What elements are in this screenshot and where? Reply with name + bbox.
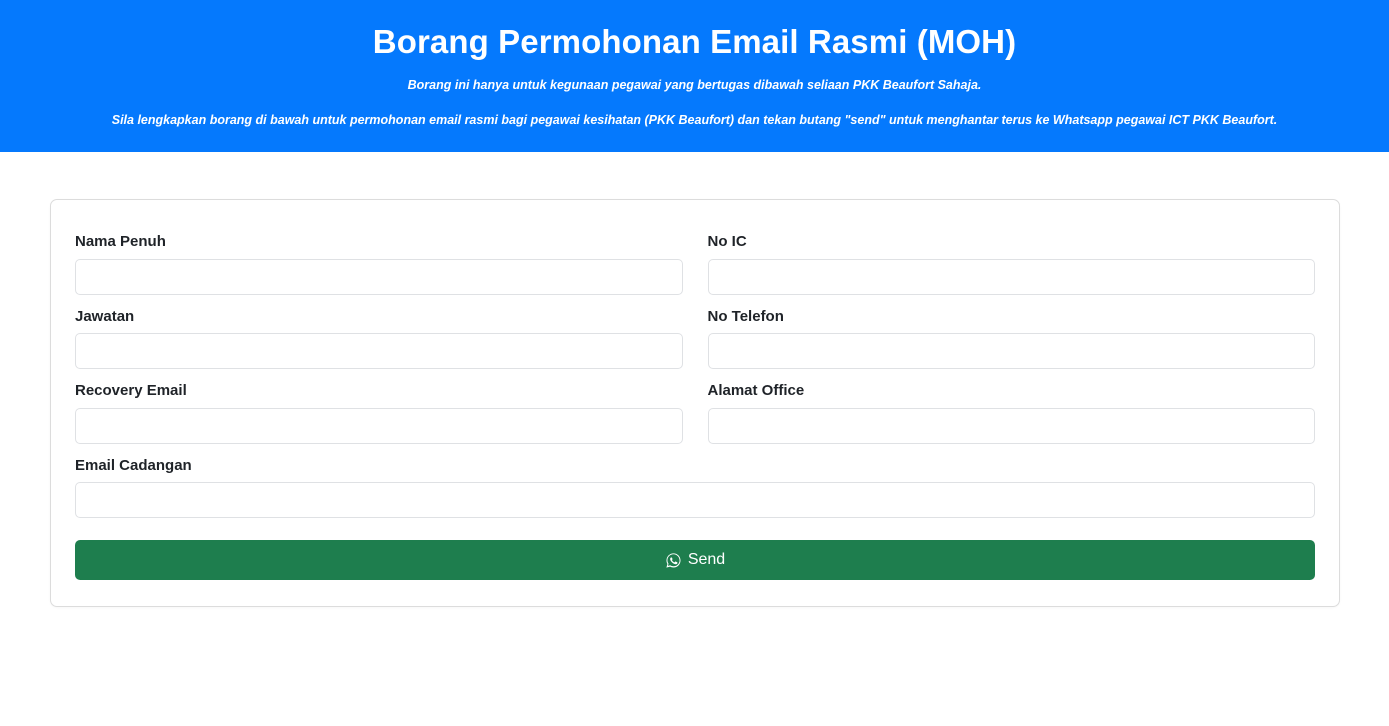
label-alamat-office: Alamat Office [708,381,1316,401]
field-no-telefon: No Telefon [708,307,1316,370]
field-jawatan: Jawatan [75,307,683,370]
whatsapp-icon [665,552,682,569]
field-recovery-email: Recovery Email [75,381,683,444]
application-form-card: Nama Penuh No IC Jawatan No Telefon Reco… [50,199,1340,607]
label-recovery-email: Recovery Email [75,381,683,401]
label-jawatan: Jawatan [75,307,683,327]
input-no-telefon[interactable] [708,333,1316,369]
input-email-cadangan[interactable] [75,482,1315,518]
input-jawatan[interactable] [75,333,683,369]
send-button-label: Send [688,552,725,568]
label-no-ic: No IC [708,232,1316,252]
email-request-form: Nama Penuh No IC Jawatan No Telefon Reco… [75,232,1315,580]
page-header: Borang Permohonan Email Rasmi (MOH) Bora… [0,0,1389,152]
label-nama-penuh: Nama Penuh [75,232,683,252]
input-alamat-office[interactable] [708,408,1316,444]
field-nama-penuh: Nama Penuh [75,232,683,295]
input-no-ic[interactable] [708,259,1316,295]
input-recovery-email[interactable] [75,408,683,444]
input-nama-penuh[interactable] [75,259,683,295]
page-title: Borang Permohonan Email Rasmi (MOH) [373,22,1016,62]
header-subtitle-secondary: Sila lengkapkan borang di bawah untuk pe… [112,113,1278,127]
label-email-cadangan: Email Cadangan [75,456,1315,476]
header-subtitle-primary: Borang ini hanya untuk kegunaan pegawai … [408,78,982,92]
field-email-cadangan: Email Cadangan [75,456,1315,519]
field-no-ic: No IC [708,232,1316,295]
field-alamat-office: Alamat Office [708,381,1316,444]
label-no-telefon: No Telefon [708,307,1316,327]
card-container: Nama Penuh No IC Jawatan No Telefon Reco… [0,152,1389,607]
send-button[interactable]: Send [75,540,1315,580]
